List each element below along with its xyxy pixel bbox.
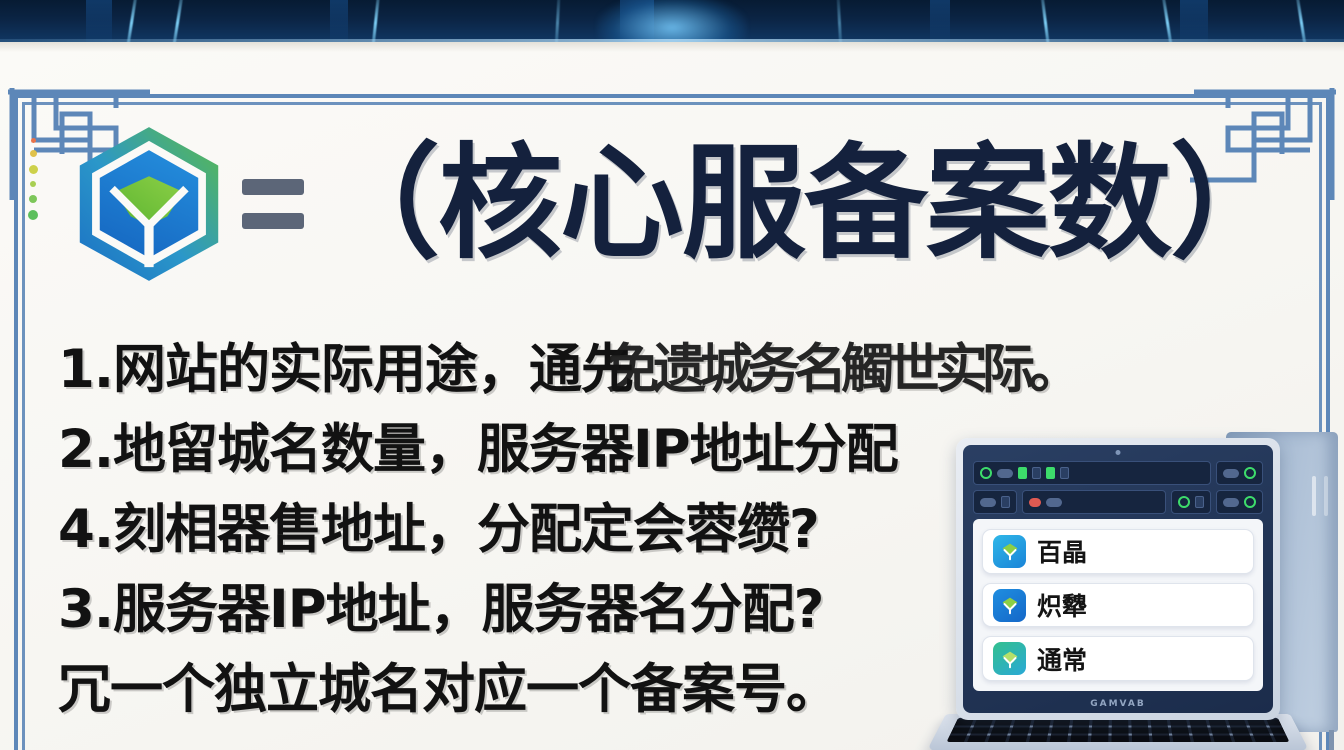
toolbar-group[interactable]: [973, 461, 1211, 485]
toolbar-pill-icon: [1223, 469, 1239, 478]
toolbar-group[interactable]: [1022, 490, 1166, 514]
list-item[interactable]: 百晶: [982, 529, 1254, 574]
toolbar-group[interactable]: [1216, 461, 1263, 485]
toolbar-group[interactable]: [1216, 490, 1263, 514]
indicator-chip-icon: [1001, 496, 1010, 508]
status-dot-icon: [1178, 496, 1190, 508]
toolbar-group[interactable]: [1171, 490, 1211, 514]
keyboard: [946, 718, 1289, 742]
list-item-label: 通常: [1037, 641, 1087, 677]
leaf-app-icon: [993, 535, 1026, 568]
toolbar-pill-icon: [1046, 498, 1062, 507]
line-number: 3.: [58, 579, 113, 640]
laptop-lid: GAMVAB: [956, 438, 1280, 720]
line-text: 地留城名数量，服务器IP地址分配: [113, 419, 898, 480]
indicator-chip-icon: [1046, 467, 1055, 479]
laptop: GAMVAB: [946, 438, 1290, 750]
app-toolbar-row-1: [973, 461, 1263, 485]
leaf-app-icon: [993, 642, 1026, 675]
indicator-chip-icon: [1032, 467, 1041, 479]
list-item-label: 炽犩: [1037, 587, 1087, 623]
leaf-app-icon: [993, 589, 1026, 622]
body-line: 1.网站的实际用途，通先 免遗城务名觸世实际。: [58, 330, 1288, 410]
indicator-chip-icon: [1195, 496, 1204, 508]
laptop-brand: GAMVAB: [1090, 699, 1146, 709]
gradient-dots-decoration: [27, 138, 39, 220]
list-item-label: 百晶: [1037, 533, 1087, 569]
line-text: 服务器IP地址，服务器名分配?: [113, 579, 823, 640]
status-dot-icon: [1244, 467, 1256, 479]
poster-card: （核心服备案数） 1.网站的实际用途，通先 免遗城务名觸世实际。 2.地留城名数…: [0, 42, 1344, 750]
list-item[interactable]: 炽犩: [982, 583, 1254, 628]
tech-banner: [0, 0, 1344, 42]
indicator-chip-icon: [1060, 467, 1069, 479]
status-dot-icon: [980, 467, 992, 479]
toolbar-pill-icon: [980, 498, 996, 507]
app-list: 百晶 炽犩: [973, 519, 1263, 691]
toolbar-pill-icon: [997, 469, 1013, 478]
equals-sign: [242, 169, 304, 239]
toolbar-group[interactable]: [973, 490, 1017, 514]
toolbar-pill-icon: [1223, 498, 1239, 507]
line-text: 刻相器售地址，分配定会蓉缵?: [113, 499, 819, 560]
title-row: （核心服备案数）: [70, 120, 1270, 288]
device-illustration: GAMVAB: [946, 414, 1344, 750]
indicator-chip-icon: [1018, 467, 1027, 479]
laptop-bezel: GAMVAB: [963, 445, 1273, 713]
status-dot-icon: [1244, 496, 1256, 508]
record-dot-icon: [1029, 498, 1041, 507]
webcam-icon: [1116, 450, 1121, 455]
banner-glow: [597, 0, 747, 42]
line-number: 2.: [58, 419, 113, 480]
list-item[interactable]: 通常: [982, 636, 1254, 681]
line-number: 4.: [58, 499, 113, 560]
page-title: （核心服备案数）: [316, 142, 1292, 266]
line-overlap-text: 免遗城务名觸世实际。: [606, 330, 1076, 410]
hexagon-leaf-logo: [70, 124, 228, 284]
line-text: 冗一个独立城名对应一个备案号。: [58, 659, 838, 720]
line-text: 网站的实际用途，通先: [113, 339, 633, 400]
line-number: 1.: [58, 339, 113, 400]
app-toolbar-row-2: [973, 490, 1263, 514]
poster-root: （核心服备案数） 1.网站的实际用途，通先 免遗城务名觸世实际。 2.地留城名数…: [0, 0, 1344, 750]
